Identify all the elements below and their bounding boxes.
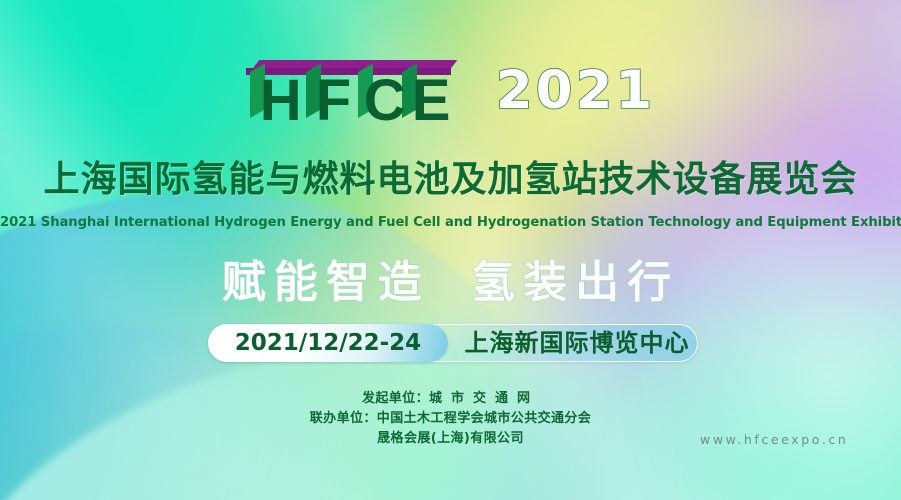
event-poster: H F C E 2021 上海国际氢能与燃料电池及加氢站技术设备展览会 2021… [0, 0, 901, 500]
organizer-line-initiator: 发起单位：城市交通网 [0, 389, 901, 409]
organizer-coorganizer-value: 中国土木工程学会城市公共交通分会 [377, 411, 591, 426]
logo-letter-c: C [364, 72, 405, 130]
logo-letter-e: E [412, 72, 450, 130]
event-date-text: 2021/12/22-24 [235, 332, 421, 355]
hfce-logo-mark: H F C E [246, 58, 458, 130]
event-venue-text: 上海新国际博览中心 [465, 330, 690, 356]
organizer-initiator-value: 城市交通网 [429, 391, 539, 406]
logo-letter-f: F [316, 72, 350, 130]
slogan-part-2: 氢装出行 [471, 257, 679, 308]
poster-content: H F C E 2021 上海国际氢能与燃料电池及加氢站技术设备展览会 2021… [0, 0, 901, 500]
logo-row: H F C E 2021 [0, 58, 901, 130]
organizer-coorganizer-label: 联办单位： [310, 411, 377, 426]
slogan-gap [430, 257, 471, 308]
logo-letters: H F C E [246, 68, 458, 130]
organizer-line-coorganizer: 联办单位：中国土木工程学会城市公共交通分会 [0, 409, 901, 429]
page-title-cn: 上海国际氢能与燃料电池及加氢站技术设备展览会 [0, 158, 901, 202]
website-url[interactable]: www.hfceexpo.cn [700, 432, 848, 448]
slogan-part-1: 赋能智造 [222, 257, 430, 308]
event-date-pill: 2021/12/22-24 [208, 324, 448, 362]
logo-letter-h: H [260, 72, 301, 130]
page-subtitle-en: 2021 Shanghai International Hydrogen Ene… [0, 213, 901, 233]
logo-year: 2021 [496, 62, 656, 120]
organizer-initiator-label: 发起单位： [362, 391, 429, 406]
slogan: 赋能智造 氢装出行 [0, 256, 901, 310]
date-venue-capsule: 2021/12/22-24 上海新国际博览中心 [208, 324, 698, 362]
event-venue-pill: 上海新国际博览中心 [456, 324, 698, 362]
